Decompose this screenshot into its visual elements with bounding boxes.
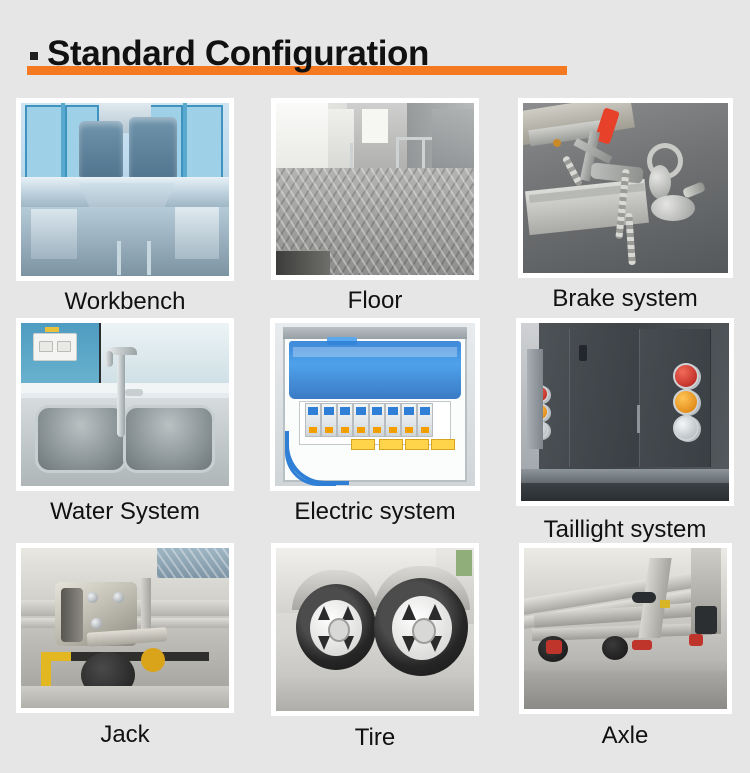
- tire-photo: [276, 548, 474, 711]
- grid-item-floor[interactable]: Floor: [250, 88, 500, 309]
- photo-card: [518, 98, 733, 278]
- water-system-photo: [21, 323, 229, 486]
- item-caption: Electric system: [294, 499, 455, 525]
- grid-item-taillight-system[interactable]: Taillight system: [500, 309, 750, 529]
- page-title: Standard Configuration: [30, 33, 429, 75]
- caption-wrap: Tire: [355, 725, 395, 751]
- caption-wrap: Water System: [50, 499, 200, 525]
- grid-item-workbench[interactable]: Workbench: [0, 88, 250, 309]
- photo-card: [16, 318, 234, 491]
- caption-wrap: Jack: [100, 722, 149, 748]
- grid-item-axle[interactable]: Axle: [500, 529, 750, 752]
- photo-card: [270, 318, 480, 491]
- square-bullet-icon: [30, 52, 38, 60]
- photo-card: [271, 543, 479, 716]
- photo-card: [16, 543, 234, 713]
- item-caption: Tire: [355, 725, 395, 751]
- configuration-grid: Workbench Floor: [0, 88, 750, 752]
- taillight-system-photo: [521, 323, 729, 501]
- jack-photo: [21, 548, 229, 708]
- page-header: Standard Configuration: [0, 0, 750, 88]
- photo-card: [16, 98, 234, 281]
- grid-item-water-system[interactable]: Water System: [0, 309, 250, 529]
- photo-card: [271, 98, 479, 280]
- photo-card: [516, 318, 734, 506]
- grid-item-electric-system[interactable]: Electric system: [250, 309, 500, 529]
- photo-card: [519, 543, 732, 714]
- workbench-photo: [21, 103, 229, 276]
- caption-wrap: Electric system: [294, 499, 455, 525]
- brake-system-photo: [523, 103, 728, 273]
- electric-system-photo: [275, 323, 475, 486]
- axle-photo: [524, 548, 727, 709]
- grid-item-jack[interactable]: Jack: [0, 529, 250, 752]
- page-title-text: Standard Configuration: [47, 34, 429, 74]
- caption-wrap: Axle: [602, 723, 649, 749]
- item-caption: Jack: [100, 722, 149, 748]
- item-caption: Water System: [50, 499, 200, 525]
- grid-item-tire[interactable]: Tire: [250, 529, 500, 752]
- item-caption: Axle: [602, 723, 649, 749]
- grid-item-brake-system[interactable]: Brake system: [500, 88, 750, 309]
- floor-photo: [276, 103, 474, 275]
